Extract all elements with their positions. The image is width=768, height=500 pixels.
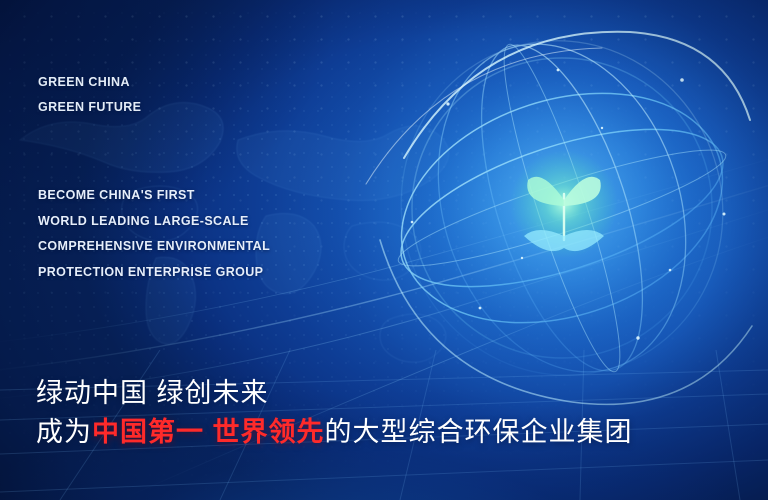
headline-cn: 绿动中国 绿创未来 成为中国第一 世界领先的大型综合环保企业集团 xyxy=(36,374,746,452)
headline-en-body: BECOME CHINA'S FIRST WORLD LEADING LARGE… xyxy=(38,183,270,285)
headline-en-top-line-2: GREEN FUTURE xyxy=(38,95,141,120)
headline-en-top: GREEN CHINA GREEN FUTURE xyxy=(38,70,141,120)
headline-cn-prefix: 成为 xyxy=(36,417,92,447)
headline-en-body-line-3: COMPREHENSIVE ENVIRONMENTAL xyxy=(38,234,270,260)
headline-cn-suffix: 的大型综合环保企业集团 xyxy=(325,417,633,447)
headline-en-top-line-1: GREEN CHINA xyxy=(38,70,141,95)
headline-en-body-line-2: WORLD LEADING LARGE-SCALE xyxy=(38,209,270,235)
headline-cn-line-1: 绿动中国 绿创未来 xyxy=(36,374,746,412)
hero-banner: GREEN CHINA GREEN FUTURE BECOME CHINA'S … xyxy=(0,0,768,500)
headline-cn-highlight: 中国第一 世界领先 xyxy=(92,417,325,447)
headline-en-body-line-1: BECOME CHINA'S FIRST xyxy=(38,183,270,209)
headline-en-body-line-4: PROTECTION ENTERPRISE GROUP xyxy=(38,260,270,286)
headline-cn-line-2: 成为中国第一 世界领先的大型综合环保企业集团 xyxy=(36,412,746,452)
